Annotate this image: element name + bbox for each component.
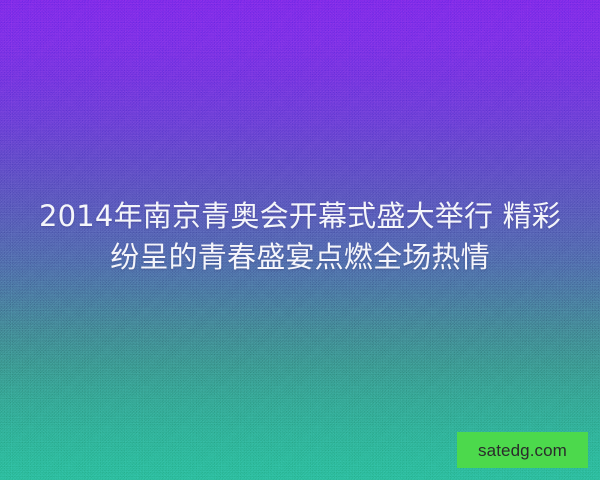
image-canvas: 2014年南京青奥会开幕式盛大举行 精彩 纷呈的青春盛宴点燃全场热情 sated… — [0, 0, 600, 480]
watermark-badge: satedg.com — [457, 432, 588, 468]
watermark-label: satedg.com — [478, 442, 567, 459]
headline-text: 2014年南京青奥会开幕式盛大举行 精彩 纷呈的青春盛宴点燃全场热情 — [0, 196, 600, 278]
